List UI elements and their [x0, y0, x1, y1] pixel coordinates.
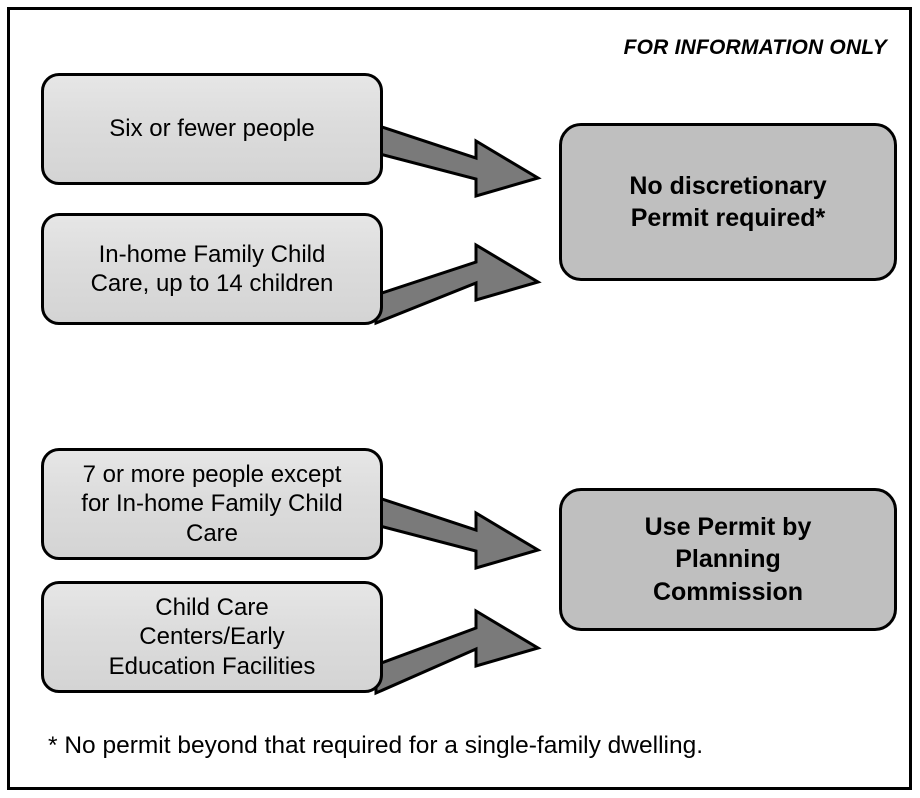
- text-line: Child Care: [155, 594, 268, 621]
- source-box-six-or-fewer[interactable]: Six or fewer people: [41, 73, 383, 185]
- target-box-use-permit-planning-commission[interactable]: Use Permit by Planning Commission: [559, 488, 897, 631]
- text-line: Planning: [675, 545, 781, 573]
- text-line: Centers/Early: [139, 623, 284, 650]
- text-line: Permit required*: [631, 204, 826, 232]
- diagram-frame: FOR INFORMATION ONLY Six or fewer people…: [7, 7, 912, 790]
- text-line: No discretionary: [629, 172, 826, 200]
- text-line: In-home Family Child: [99, 241, 326, 268]
- source-box-seven-or-more-label: 7 or more people except for In-home Fami…: [56, 460, 368, 548]
- target-box-use-permit-planning-commission-label: Use Permit by Planning Commission: [576, 511, 880, 609]
- source-box-child-care-centers-label: Child Care Centers/Early Education Facil…: [56, 593, 368, 681]
- text-line: Six or fewer people: [109, 115, 314, 142]
- footnote-text: * No permit beyond that required for a s…: [48, 732, 703, 760]
- source-box-child-care-centers[interactable]: Child Care Centers/Early Education Facil…: [41, 581, 383, 693]
- arrow-seven-or-more-to-use-permit: [376, 497, 538, 568]
- source-box-seven-or-more[interactable]: 7 or more people except for In-home Fami…: [41, 448, 383, 560]
- arrow-child-care-centers-to-use-permit: [376, 611, 538, 693]
- text-line: Use Permit by: [645, 513, 812, 541]
- text-line: Care, up to 14 children: [91, 270, 334, 297]
- text-line: for In-home Family Child: [81, 490, 342, 517]
- information-only-label: FOR INFORMATION ONLY: [624, 36, 887, 60]
- target-box-no-discretionary-permit[interactable]: No discretionary Permit required*: [559, 123, 897, 281]
- text-line: Education Facilities: [109, 653, 316, 680]
- arrow-six-or-fewer-to-no-permit: [376, 125, 538, 196]
- text-line: Commission: [653, 578, 803, 606]
- text-line: Care: [186, 520, 238, 547]
- source-box-six-or-fewer-label: Six or fewer people: [56, 114, 368, 143]
- arrow-in-home-family-to-no-permit: [376, 245, 538, 323]
- source-box-in-home-family-child-care[interactable]: In-home Family Child Care, up to 14 chil…: [41, 213, 383, 325]
- source-box-in-home-family-child-care-label: In-home Family Child Care, up to 14 chil…: [56, 240, 368, 299]
- target-box-no-discretionary-permit-label: No discretionary Permit required*: [576, 170, 880, 235]
- text-line: 7 or more people except: [83, 461, 342, 488]
